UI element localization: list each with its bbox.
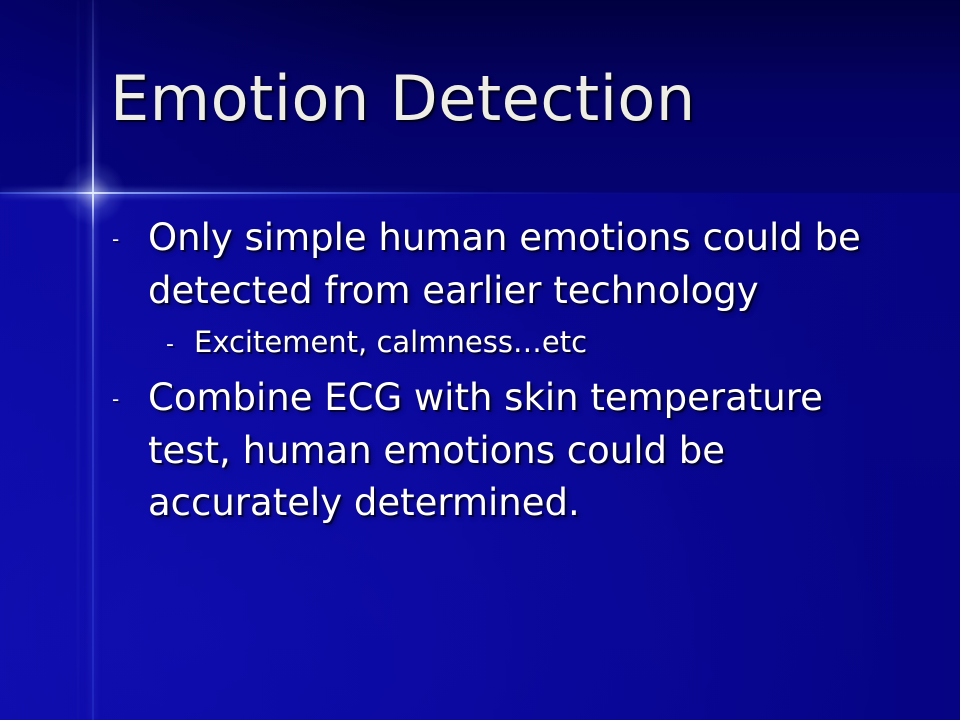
bullet-text: Combine ECG with skin temperature test, … — [148, 372, 906, 530]
decorative-vertical-line — [92, 0, 94, 720]
bullet-marker-icon: - — [106, 212, 148, 249]
slide-body: - Only simple human emotions could be de… — [106, 212, 906, 536]
bullet-text: Only simple human emotions could be dete… — [148, 212, 906, 317]
presentation-slide: Emotion Detection - Only simple human em… — [0, 0, 960, 720]
bullet-marker-icon: - — [166, 323, 194, 356]
slide-title: Emotion Detection — [110, 66, 870, 131]
bullet-text: Excitement, calmness…etc — [194, 323, 906, 362]
bullet-item-level1: - Combine ECG with skin temperature test… — [106, 372, 906, 530]
decorative-horizontal-line — [0, 192, 960, 194]
bullet-item-level1: - Only simple human emotions could be de… — [106, 212, 906, 317]
decorative-vertical-line-secondary — [77, 0, 79, 720]
bullet-marker-icon: - — [106, 372, 148, 409]
bullet-item-level2: - Excitement, calmness…etc — [106, 323, 906, 362]
